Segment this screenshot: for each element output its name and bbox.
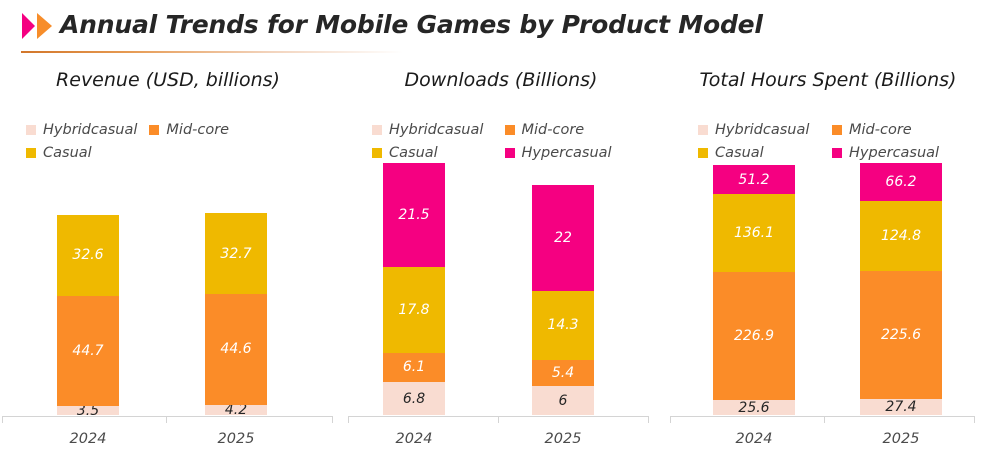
x-axis-tick-1 xyxy=(498,416,499,423)
x-axis-tick-1 xyxy=(166,416,167,423)
bar-segment-mid-core-2024[interactable]: 6.1 xyxy=(383,353,445,382)
x-axis-category-label-2024: 2024 xyxy=(369,431,459,447)
bar-value-label: 32.6 xyxy=(72,247,103,263)
bar-value-label: 136.1 xyxy=(734,225,774,241)
bar-value-label: 22 xyxy=(554,230,572,246)
bar-value-label: 6.1 xyxy=(403,359,425,375)
x-axis-line xyxy=(2,416,332,417)
x-axis-tick-1 xyxy=(824,416,825,423)
chart-plot-hours: 25.6226.9136.151.227.4225.6124.866.22024… xyxy=(666,58,990,470)
title-divider xyxy=(21,51,403,53)
bar-segment-hybridcasual-2024[interactable]: 3.5 xyxy=(57,406,119,415)
chart-panel-hours: Total Hours Spent (Billions) Hybridcasua… xyxy=(666,58,990,470)
chart-panel-revenue: Revenue (USD, billions) HybridcasualMid-… xyxy=(0,58,336,470)
x-axis-line xyxy=(670,416,974,417)
bar-segment-mid-core-2024[interactable]: 44.7 xyxy=(57,296,119,407)
bar-value-label: 4.2 xyxy=(225,405,247,415)
x-axis-tick-2 xyxy=(332,416,333,423)
x-axis-category-label-2024: 2024 xyxy=(43,431,133,447)
bar-segment-hypercasual-2025[interactable]: 22 xyxy=(532,185,594,291)
bar-segment-hybridcasual-2025[interactable]: 4.2 xyxy=(205,405,267,415)
bar-segment-casual-2024[interactable]: 17.8 xyxy=(383,267,445,353)
page-header: Annual Trends for Mobile Games by Produc… xyxy=(0,0,990,58)
bar-value-label: 124.8 xyxy=(881,228,921,244)
x-axis-tick-2 xyxy=(974,416,975,423)
bar-segment-hypercasual-2024[interactable]: 51.2 xyxy=(713,165,795,194)
x-axis-tick-0 xyxy=(670,416,671,423)
bar-segment-mid-core-2025[interactable]: 5.4 xyxy=(532,360,594,386)
bar-segment-hypercasual-2025[interactable]: 66.2 xyxy=(860,163,942,201)
bar-segment-mid-core-2025[interactable]: 225.6 xyxy=(860,271,942,399)
bar-segment-hypercasual-2024[interactable]: 21.5 xyxy=(383,163,445,267)
bar-value-label: 51.2 xyxy=(738,172,769,188)
bar-value-label: 5.4 xyxy=(552,365,574,381)
bar-segment-mid-core-2024[interactable]: 226.9 xyxy=(713,272,795,401)
chart-panel-downloads: Downloads (Billions) HybridcasualMid-cor… xyxy=(336,58,666,470)
bar-segment-casual-2024[interactable]: 32.6 xyxy=(57,215,119,296)
bar-value-label: 6 xyxy=(559,393,568,409)
chart-plot-revenue: 3.544.732.64.244.632.720242025 xyxy=(0,58,336,470)
chart-page: Annual Trends for Mobile Games by Produc… xyxy=(0,0,990,470)
x-axis-category-label-2025: 2025 xyxy=(191,431,281,447)
bar-value-label: 25.6 xyxy=(738,400,769,415)
chart-plot-downloads: 6.86.117.821.565.414.32220242025 xyxy=(336,58,666,470)
bar-segment-casual-2025[interactable]: 32.7 xyxy=(205,213,267,294)
bar-value-label: 44.7 xyxy=(72,343,103,359)
bar-segment-hybridcasual-2025[interactable]: 27.4 xyxy=(860,399,942,415)
bar-segment-hybridcasual-2024[interactable]: 25.6 xyxy=(713,400,795,415)
bar-value-label: 14.3 xyxy=(547,317,578,333)
x-axis-category-label-2025: 2025 xyxy=(856,431,946,447)
x-axis-tick-0 xyxy=(2,416,3,423)
bar-value-label: 27.4 xyxy=(885,399,916,415)
bar-segment-mid-core-2025[interactable]: 44.6 xyxy=(205,294,267,405)
bar-value-label: 3.5 xyxy=(77,406,99,415)
bar-value-label: 225.6 xyxy=(881,327,921,343)
bar-value-label: 6.8 xyxy=(403,391,425,407)
bar-segment-casual-2025[interactable]: 14.3 xyxy=(532,291,594,360)
bar-value-label: 66.2 xyxy=(885,174,916,190)
x-axis-category-label-2025: 2025 xyxy=(518,431,608,447)
x-axis-category-label-2024: 2024 xyxy=(709,431,799,447)
bar-segment-hybridcasual-2025[interactable]: 6 xyxy=(532,386,594,415)
bar-value-label: 226.9 xyxy=(734,328,774,344)
bar-value-label: 32.7 xyxy=(220,246,251,262)
page-title: Annual Trends for Mobile Games by Produc… xyxy=(60,10,763,39)
header-icon-group xyxy=(22,13,52,39)
x-axis-tick-2 xyxy=(648,416,649,423)
bar-value-label: 44.6 xyxy=(220,341,251,357)
bar-segment-casual-2025[interactable]: 124.8 xyxy=(860,201,942,272)
bar-value-label: 17.8 xyxy=(398,302,429,318)
play-triangle-orange-icon xyxy=(37,13,52,39)
play-triangle-magenta-icon xyxy=(22,13,35,39)
bar-value-label: 21.5 xyxy=(398,207,429,223)
bar-segment-hybridcasual-2024[interactable]: 6.8 xyxy=(383,382,445,415)
x-axis-tick-0 xyxy=(348,416,349,423)
bar-segment-casual-2024[interactable]: 136.1 xyxy=(713,194,795,271)
